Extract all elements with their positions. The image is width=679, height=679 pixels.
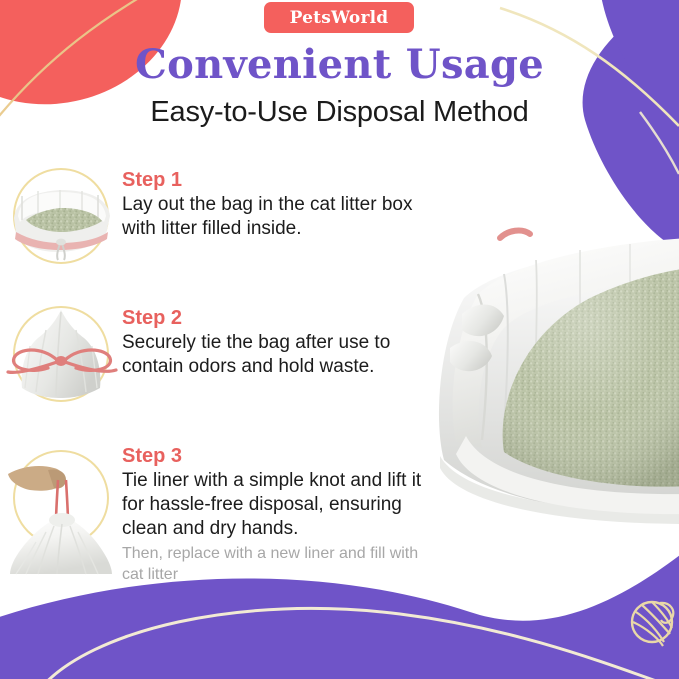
step-2-text: Securely tie the bag after use to contai… (122, 331, 422, 379)
step-2-thumbnail (0, 298, 122, 410)
header-block: Convenient Usage Easy-to-Use Disposal Me… (0, 42, 679, 131)
step-3-body: Step 3 Tie liner with a simple knot and … (122, 436, 422, 585)
step-2-body: Step 2 Securely tie the bag after use to… (122, 298, 422, 379)
step-2-label: Step 2 (122, 306, 422, 330)
step-item: Step 1 Lay out the bag in the cat litter… (0, 160, 470, 272)
step-3-thumbnail (0, 436, 122, 576)
page-subtitle: Easy-to-Use Disposal Method (0, 93, 679, 131)
step-3-text: Tie liner with a simple knot and lift it… (122, 469, 422, 541)
steps-list: Step 1 Lay out the bag in the cat litter… (0, 160, 470, 585)
step-1-thumbnail (0, 160, 122, 272)
step-1-body: Step 1 Lay out the bag in the cat litter… (122, 160, 422, 241)
cream-arc-line-bottom (40, 608, 679, 679)
step-1-text: Lay out the bag in the cat litter box wi… (122, 193, 422, 241)
infographic-page: PetsWorld Convenient Usage Easy-to-Use D… (0, 0, 679, 679)
step-3-label: Step 3 (122, 444, 422, 468)
page-title: Convenient Usage (0, 42, 679, 88)
step-item: Step 2 Securely tie the bag after use to… (0, 298, 470, 410)
step-3-note: Then, replace with a new liner and fill … (122, 543, 422, 585)
brand-name: PetsWorld (290, 8, 389, 28)
brand-logo: PetsWorld (264, 2, 414, 33)
tied-bag-bow-photo (0, 298, 122, 410)
yarn-ball-icon (632, 602, 673, 646)
step-item: Step 3 Tie liner with a simple knot and … (0, 436, 470, 585)
litter-box-lined-photo (0, 160, 122, 272)
step-1-label: Step 1 (122, 168, 422, 192)
hand-lifting-bag-photo (0, 436, 122, 576)
